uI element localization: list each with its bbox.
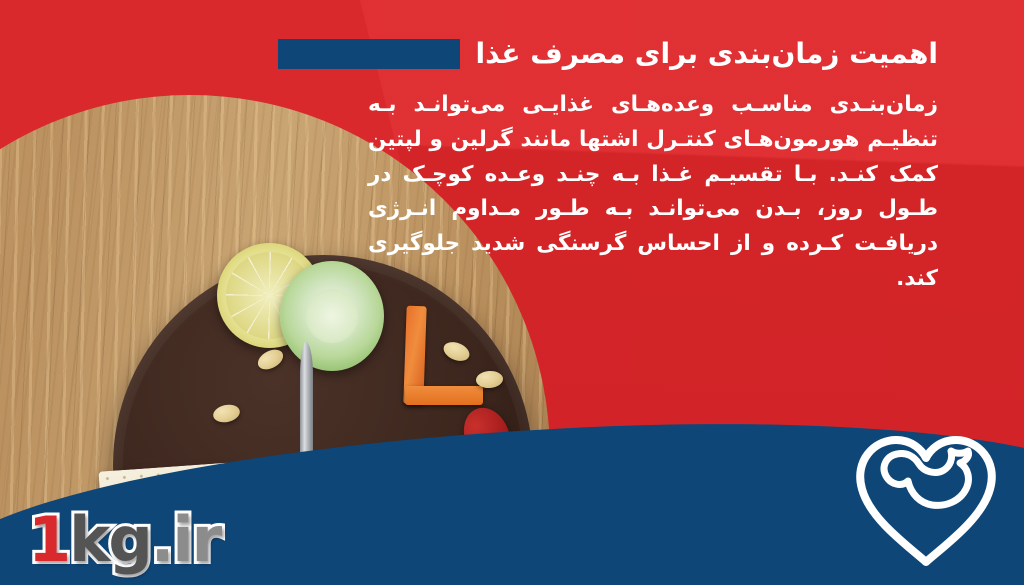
title-row: اهمیت زمان‌بندی برای مصرف غذا [368, 36, 938, 71]
logo-text-1: 1 [28, 503, 69, 576]
infographic-banner: اهمیت زمان‌بندی برای مصرف غذا زمان‌بنـدی… [0, 0, 1024, 585]
page-title: اهمیت زمان‌بندی برای مصرف غذا [476, 36, 938, 71]
logo-text-kg: kg [69, 503, 151, 576]
heart-muscle-icon[interactable] [850, 423, 1002, 575]
brand-logo-1kgir[interactable]: 1kg.ir [28, 509, 220, 571]
logo-text-ir: .ir [151, 503, 220, 576]
body-paragraph-wrapper: زمان‌بنـدی مناسـب وعده‌هـای غذایـی می‌تو… [368, 88, 938, 297]
text-content: اهمیت زمان‌بندی برای مصرف غذا زمان‌بنـدی… [368, 36, 938, 297]
body-paragraph: زمان‌بنـدی مناسـب وعده‌هـای غذایـی می‌تو… [368, 88, 938, 297]
carrot-minute-hand [405, 386, 483, 405]
title-accent-bar [278, 39, 460, 69]
